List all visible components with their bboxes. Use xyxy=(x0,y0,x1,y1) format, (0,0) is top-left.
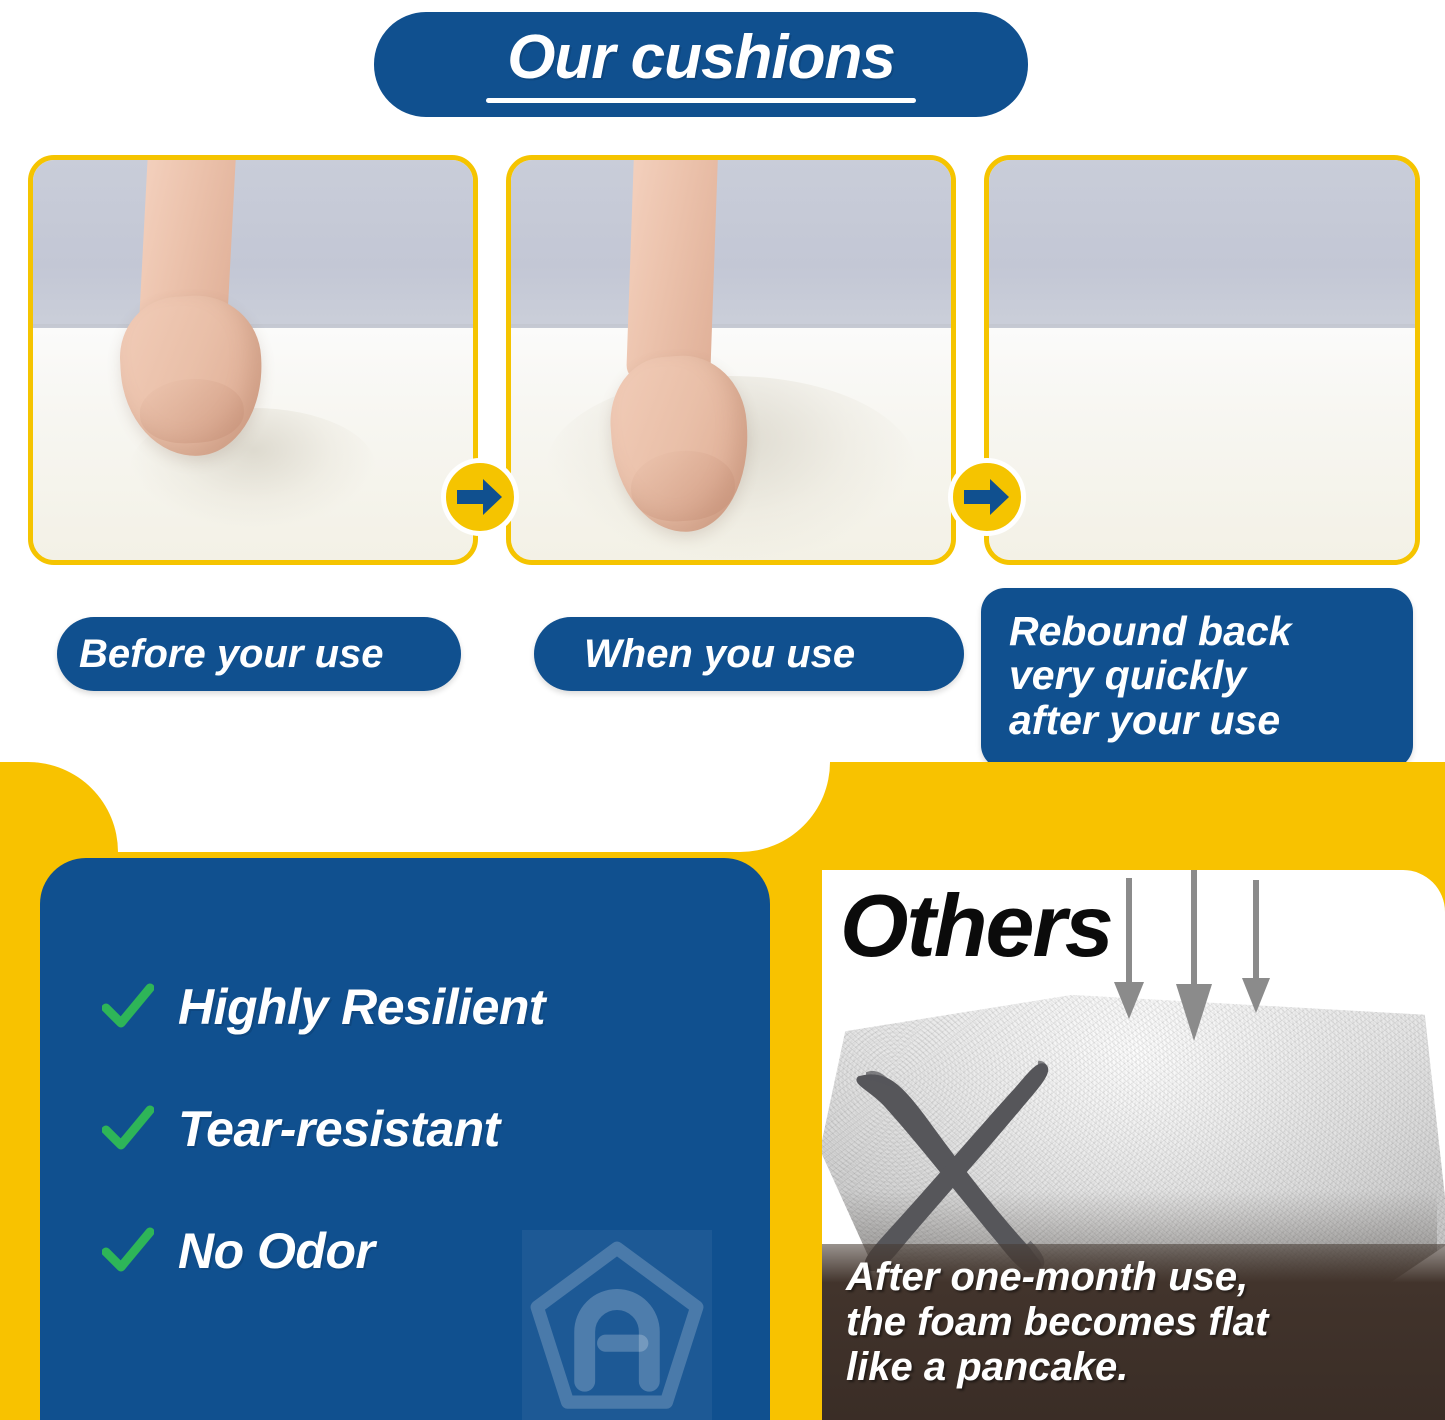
step-photo-1 xyxy=(28,155,478,565)
step-arrow-badge-1 xyxy=(441,458,519,536)
forearm xyxy=(626,155,718,385)
others-title: Others xyxy=(840,882,1112,970)
title-underline xyxy=(486,98,916,103)
step-arrow-badge-2 xyxy=(948,458,1026,536)
feature-item-highly-resilient: Highly Resilient xyxy=(102,946,742,1068)
others-caption-line-1: After one-month use, xyxy=(822,1255,1445,1300)
arrow-down-icon xyxy=(1239,880,1273,1014)
step-caption-3-line-1: Rebound back xyxy=(1009,609,1413,653)
step-panels xyxy=(0,155,1445,570)
arrow-right-icon xyxy=(964,478,1010,516)
feature-label: Highly Resilient xyxy=(178,978,545,1036)
check-mark-icon xyxy=(102,1225,154,1277)
pentagon-a-logo-icon xyxy=(522,1230,712,1420)
arrow-down-icon xyxy=(1112,878,1146,1020)
feature-label: Tear-resistant xyxy=(178,1100,500,1158)
knuckle-shading xyxy=(629,447,737,524)
foam-photo-after xyxy=(989,160,1415,560)
press-arrow-1 xyxy=(1112,878,1146,1025)
arrow-right-icon xyxy=(457,478,503,516)
others-caption: After one-month use, the foam becomes fl… xyxy=(822,1244,1445,1420)
feature-label: No Odor xyxy=(178,1222,374,1280)
step-caption-3-line-3: after your use xyxy=(1009,698,1413,742)
foam-surface xyxy=(989,328,1415,560)
feature-item-tear-resistant: Tear-resistant xyxy=(102,1068,742,1190)
features-card: Highly Resilient Tear-resistant No Odor xyxy=(40,858,770,1420)
photo-background-wall xyxy=(989,160,1415,336)
page-title: Our cushions xyxy=(507,27,895,89)
infographic-page: Our cushions xyxy=(0,0,1445,1420)
step-photo-2 xyxy=(506,155,956,565)
header-banner: Our cushions xyxy=(374,12,1028,117)
step-caption-3: Rebound back very quickly after your use xyxy=(981,588,1413,769)
step-photo-3 xyxy=(984,155,1420,565)
foam-photo-before xyxy=(33,160,473,560)
arrow-down-icon xyxy=(1174,870,1214,1042)
step-caption-3-line-2: very quickly xyxy=(1009,653,1413,697)
check-mark-icon xyxy=(102,1103,154,1155)
photo-background-wall xyxy=(33,160,473,336)
section-top-notch xyxy=(0,762,830,852)
press-arrow-3 xyxy=(1239,880,1273,1019)
foam-photo-during xyxy=(511,160,951,560)
step-caption-2-text: When you use xyxy=(584,632,855,677)
others-card: Others xyxy=(822,870,1445,1420)
step-caption-1: Before your use xyxy=(57,617,461,691)
step-caption-2: When you use xyxy=(534,617,964,691)
others-caption-line-3: like a pancake. xyxy=(822,1345,1445,1390)
photo-background-wall xyxy=(511,160,951,336)
step-caption-1-text: Before your use xyxy=(79,632,384,677)
others-caption-line-2: the foam becomes flat xyxy=(822,1300,1445,1345)
check-mark-icon xyxy=(102,981,154,1033)
press-arrow-2 xyxy=(1174,870,1214,1047)
knuckle-shading xyxy=(138,377,245,446)
